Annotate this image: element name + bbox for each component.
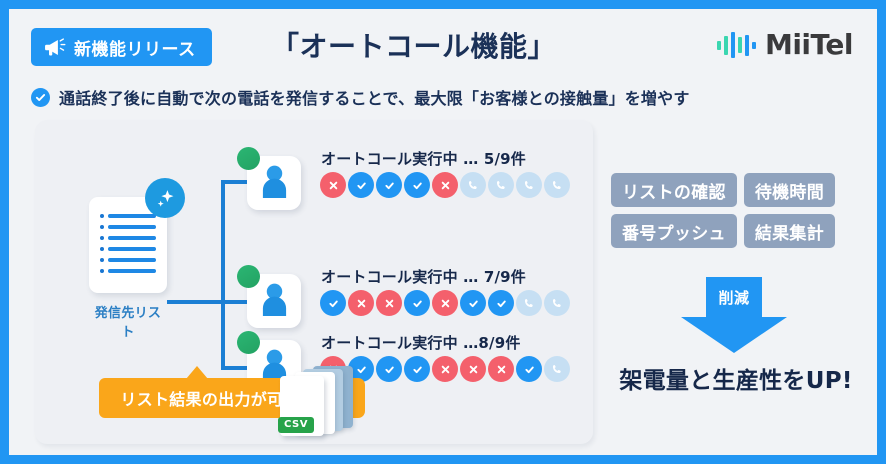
- result-pending-icon: [460, 172, 486, 198]
- person-icon: [260, 283, 289, 318]
- result-pending-icon: [544, 290, 570, 316]
- megaphone-icon: [44, 38, 66, 57]
- csv-documents-icon: CSV: [275, 365, 371, 435]
- task-tag: 番号プッシュ: [611, 214, 737, 248]
- source-list: 発信先リスト: [89, 197, 173, 340]
- badge-label: 新機能リリース: [74, 35, 196, 60]
- subtitle-text: 通話終了後に自動で次の電話を発信することで、最大限「お客様との接触量」を増やす: [59, 85, 690, 109]
- csv-front-sheet: CSV: [280, 376, 324, 436]
- source-list-label: 発信先リスト: [89, 302, 167, 340]
- result-failed-icon: [488, 356, 514, 382]
- task-tag: リストの確認: [611, 173, 737, 207]
- status-badge: [237, 265, 260, 288]
- status-badge: [237, 147, 260, 170]
- new-feature-badge: 新機能リリース: [31, 28, 212, 66]
- result-success-icon: [488, 290, 514, 316]
- call-result-dots: [320, 172, 570, 198]
- task-tag: 結果集計: [744, 214, 835, 248]
- connector-trunk-horizontal: [167, 300, 225, 304]
- reduced-tasks-group: リストの確認 待機時間 番号プッシュ 結果集計: [611, 173, 857, 248]
- status-badge: [237, 331, 260, 354]
- audio-wave-icon: [717, 32, 756, 58]
- down-arrow-head: [681, 317, 787, 353]
- call-row-title: オートコール実行中 … 7/9件: [321, 266, 526, 287]
- result-success-icon: [404, 356, 430, 382]
- result-pending-icon: [544, 356, 570, 382]
- result-failed-icon: [348, 290, 374, 316]
- down-arrow-label: 削減: [718, 287, 749, 308]
- down-arrow-body: 削減: [706, 277, 762, 317]
- subtitle: 通話終了後に自動で次の電話を発信することで、最大限「お客様との接触量」を増やす: [31, 85, 690, 109]
- logo-wordmark: MiiTel: [765, 31, 853, 59]
- result-pending-icon: [516, 290, 542, 316]
- result-failed-icon: [460, 356, 486, 382]
- csv-badge: CSV: [278, 417, 314, 433]
- result-failed-icon: [320, 172, 346, 198]
- result-failed-icon: [432, 290, 458, 316]
- call-result-dots: [320, 290, 570, 316]
- person-icon: [260, 165, 289, 200]
- check-circle-icon: [31, 88, 50, 107]
- result-pending-icon: [544, 172, 570, 198]
- result-success-icon: [376, 356, 402, 382]
- task-tag: 待機時間: [744, 173, 835, 207]
- sparkle-icon: [145, 178, 185, 218]
- miitel-logo: MiiTel: [717, 31, 853, 59]
- result-success-icon: [404, 172, 430, 198]
- call-row-title: オートコール実行中 …8/9件: [321, 332, 521, 353]
- result-pending-icon: [516, 172, 542, 198]
- result-failed-icon: [432, 356, 458, 382]
- output-banner-label: リスト結果の出力が可能: [120, 386, 299, 410]
- result-success-icon: [320, 290, 346, 316]
- slide-canvas: 新機能リリース 「オートコール機能」 MiiTel 通話終了後に自動で次の電話を…: [9, 9, 877, 455]
- result-pending-icon: [488, 172, 514, 198]
- avatar: [247, 274, 301, 328]
- call-row-title: オートコール実行中 … 5/9件: [321, 148, 526, 169]
- result-failed-icon: [376, 290, 402, 316]
- result-success-icon: [376, 172, 402, 198]
- result-failed-icon: [432, 172, 458, 198]
- avatar: [247, 156, 301, 210]
- result-text: 架電量と生産性をUP!: [611, 361, 861, 395]
- connector-trunk-vertical: [221, 180, 225, 370]
- down-arrow: 削減: [681, 277, 787, 353]
- result-success-icon: [404, 290, 430, 316]
- result-success-icon: [516, 356, 542, 382]
- page-title: 「オートコール機能」: [271, 28, 556, 66]
- slide-frame: 新機能リリース 「オートコール機能」 MiiTel 通話終了後に自動で次の電話を…: [0, 0, 886, 464]
- document-list-icon: [89, 197, 167, 293]
- result-success-icon: [348, 172, 374, 198]
- diagram-panel: 発信先リスト オートコール実行中 … 5/9件: [35, 120, 593, 444]
- result-success-icon: [460, 290, 486, 316]
